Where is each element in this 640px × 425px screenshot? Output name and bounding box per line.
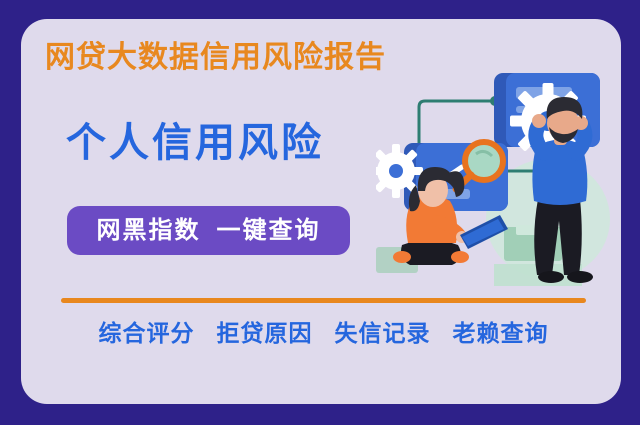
banner-panel: 网贷大数据信用风险报告 个人信用风险 网黑指数 一键查询 综合评分 拒贷原因 失…	[21, 19, 621, 404]
feature-tag-default-record[interactable]: 失信记录	[335, 322, 431, 345]
feature-tag-reject-reason[interactable]: 拒贷原因	[217, 322, 313, 345]
query-cta-button[interactable]: 网黑指数 一键查询	[67, 206, 350, 255]
orange-divider	[61, 298, 586, 303]
credit-risk-illustration	[376, 49, 621, 294]
promo-banner: 网贷大数据信用风险报告 个人信用风险 网黑指数 一键查询 综合评分 拒贷原因 失…	[0, 0, 640, 425]
feature-tag-score[interactable]: 综合评分	[99, 322, 195, 345]
feature-tag-list: 综合评分 拒贷原因 失信记录 老赖查询	[61, 322, 586, 345]
cta-label-query: 一键查询	[217, 219, 321, 243]
page-title: 网贷大数据信用风险报告	[45, 43, 386, 73]
cta-label-index: 网黑指数	[97, 219, 201, 243]
feature-tag-deadbeat-query[interactable]: 老赖查询	[453, 322, 549, 345]
subtitle: 个人信用风险	[66, 123, 324, 163]
